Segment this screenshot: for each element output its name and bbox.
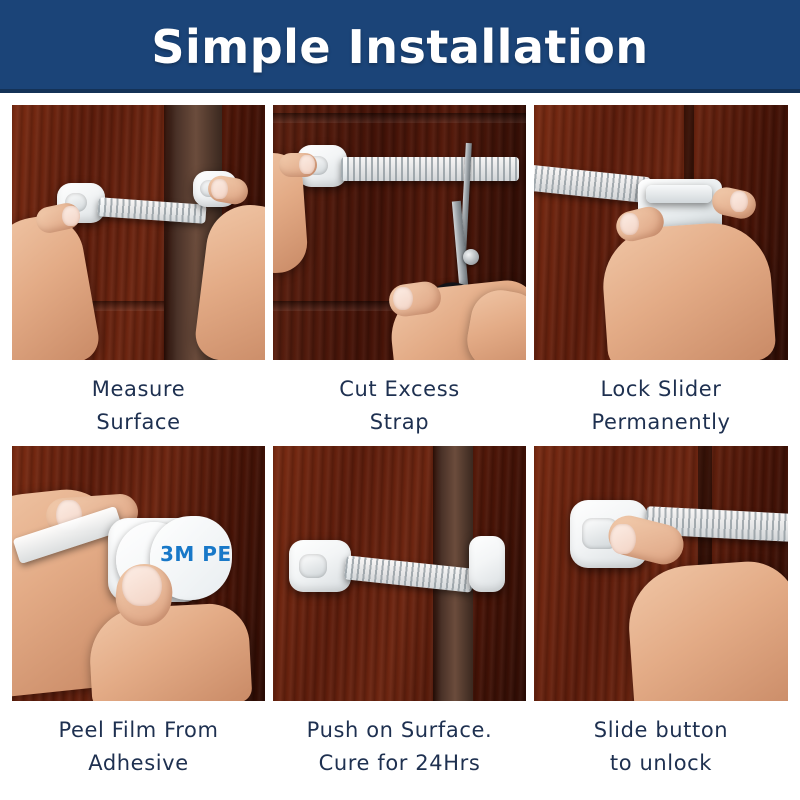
- photo-slide-button: [534, 446, 788, 701]
- steps-grid: Measure Surface: [12, 105, 788, 787]
- step-caption-6: Slide button to unlock: [534, 701, 788, 787]
- step-caption-5: Push on Surface. Cure for 24Hrs: [273, 701, 526, 787]
- lock-knob: [299, 554, 328, 578]
- photo-push-on-surface: [273, 446, 526, 701]
- step-cell-1: Measure Surface: [12, 105, 265, 446]
- step-cell-3: Lock Slider Permanently: [534, 105, 788, 446]
- scissor-pivot: [463, 249, 479, 265]
- caption-line-1: Measure: [92, 377, 185, 401]
- caption-line-2: Strap: [273, 406, 526, 439]
- panel-groove: [273, 113, 526, 123]
- strap-ribs: [341, 157, 519, 181]
- caption-line-1: Push on Surface.: [307, 718, 493, 742]
- lock-base-left: [289, 540, 351, 592]
- infographic-page: Simple Installation: [0, 0, 800, 800]
- lock-base-right: [469, 536, 505, 592]
- hand-right: [87, 602, 252, 701]
- step-caption-3: Lock Slider Permanently: [534, 360, 788, 446]
- header-banner: Simple Installation: [0, 0, 800, 93]
- step-cell-2: Cut Excess Strap: [273, 105, 526, 446]
- caption-line-2: Permanently: [534, 406, 788, 439]
- fingernail: [393, 287, 413, 310]
- photo-lock-slider: [534, 105, 788, 360]
- caption-line-2: Cure for 24Hrs: [273, 747, 526, 780]
- fingernail: [299, 155, 315, 174]
- fingernail: [610, 524, 636, 554]
- page-title: Simple Installation: [151, 24, 648, 70]
- photo-peel-film: 3M PE: [12, 446, 265, 701]
- fingernail: [122, 566, 162, 606]
- step-caption-4: Peel Film From Adhesive: [12, 701, 265, 787]
- fingernail: [730, 191, 748, 212]
- caption-line-2: Surface: [12, 406, 265, 439]
- step-caption-1: Measure Surface: [12, 360, 265, 446]
- caption-line-1: Slide button: [594, 718, 728, 742]
- step-cell-4: 3M PE Peel Film From Adhesive: [12, 446, 265, 787]
- step-cell-6: Slide button to unlock: [534, 446, 788, 787]
- photo-cut-excess-strap: [273, 105, 526, 360]
- step-cell-5: Push on Surface. Cure for 24Hrs: [273, 446, 526, 787]
- slider-latch: [646, 185, 712, 203]
- adhesive-brand-label: 3M PE: [160, 542, 232, 566]
- caption-line-1: Lock Slider: [600, 377, 721, 401]
- photo-measure-surface: [12, 105, 265, 360]
- lock-strap: [341, 157, 519, 181]
- fingernail: [211, 179, 228, 199]
- caption-line-1: Peel Film From: [58, 718, 218, 742]
- fingernail: [620, 213, 639, 235]
- caption-line-1: Cut Excess: [339, 377, 460, 401]
- step-caption-2: Cut Excess Strap: [273, 360, 526, 446]
- fingernail: [62, 206, 80, 226]
- caption-line-2: Adhesive: [12, 747, 265, 780]
- caption-line-2: to unlock: [534, 747, 788, 780]
